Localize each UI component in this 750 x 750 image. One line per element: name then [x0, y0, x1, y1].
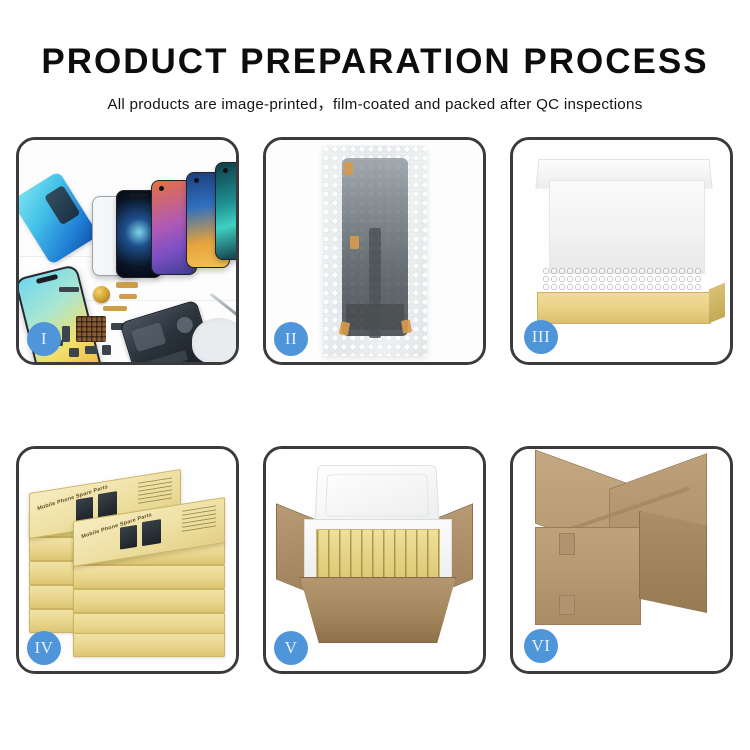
chip-array-part [76, 316, 106, 342]
process-step-2: II [263, 137, 486, 365]
flex-cable-part [116, 282, 138, 288]
process-step-3: III [510, 137, 733, 365]
page-subtitle: All products are image-printed，film-coat… [0, 79, 750, 114]
orange-tape-tab [350, 236, 359, 249]
process-step-1: I [16, 137, 239, 365]
step-badge-3: III [524, 320, 558, 354]
small-part [59, 287, 79, 292]
box-edges [317, 530, 439, 578]
process-step-6: VI [510, 446, 733, 674]
punch-hole-icon [223, 168, 228, 173]
foam-cooler-lid [314, 465, 440, 527]
phone-front-4 [215, 162, 239, 260]
small-part [102, 345, 111, 355]
gloved-hand [192, 318, 239, 364]
tweezers-icon [210, 293, 239, 316]
box-window [120, 525, 137, 550]
process-step-grid: I II [16, 137, 734, 674]
small-part [62, 326, 70, 342]
process-step-5: V [263, 446, 486, 674]
step-badge-1: I [27, 322, 61, 356]
lcd-connector-block [346, 304, 404, 330]
box-window [142, 519, 161, 546]
page-title: PRODUCT PREPARATION PROCESS [0, 0, 750, 79]
kraft-box-side [709, 283, 725, 323]
step-badge-4: IV [27, 631, 61, 665]
small-part [69, 348, 79, 357]
carton-tape-lower [559, 595, 575, 615]
box-spec-lines [138, 477, 172, 504]
stacked-box [73, 589, 225, 613]
packed-retail-boxes [316, 529, 440, 579]
housing-cutout [131, 322, 166, 352]
page-header: PRODUCT PREPARATION PROCESS All products… [0, 0, 750, 114]
step-badge-5: V [274, 631, 308, 665]
foam-sheet [549, 180, 705, 274]
carton-side-face [639, 511, 707, 613]
step-badge-2: II [274, 322, 308, 356]
shipping-carton-open [300, 577, 456, 643]
battery-slot [147, 350, 188, 365]
screen-protector-film [16, 171, 99, 265]
box-spec-lines [182, 505, 216, 532]
small-part [85, 346, 97, 354]
kraft-box-front [537, 292, 711, 324]
flex-cable-part [103, 306, 127, 311]
orange-tape-tab [344, 162, 353, 175]
carton-tape-upper [559, 533, 575, 555]
copper-coil-part [93, 286, 110, 303]
camera-cutout [175, 315, 195, 335]
stacked-box [73, 633, 225, 657]
carton-front-face [535, 527, 641, 625]
box-stack: Mobile Phone Spare Parts Mobile Phone Sp… [29, 467, 234, 657]
stacked-box [73, 565, 225, 589]
notch-icon [130, 193, 148, 197]
punch-hole-icon [159, 186, 164, 191]
process-step-4: Mobile Phone Spare Parts Mobile Phone Sp… [16, 446, 239, 674]
flex-cable-part [119, 294, 137, 299]
step-badge-6: VI [524, 629, 558, 663]
product-preparation-page: PRODUCT PREPARATION PROCESS All products… [0, 0, 750, 750]
punch-hole-icon [194, 178, 199, 183]
